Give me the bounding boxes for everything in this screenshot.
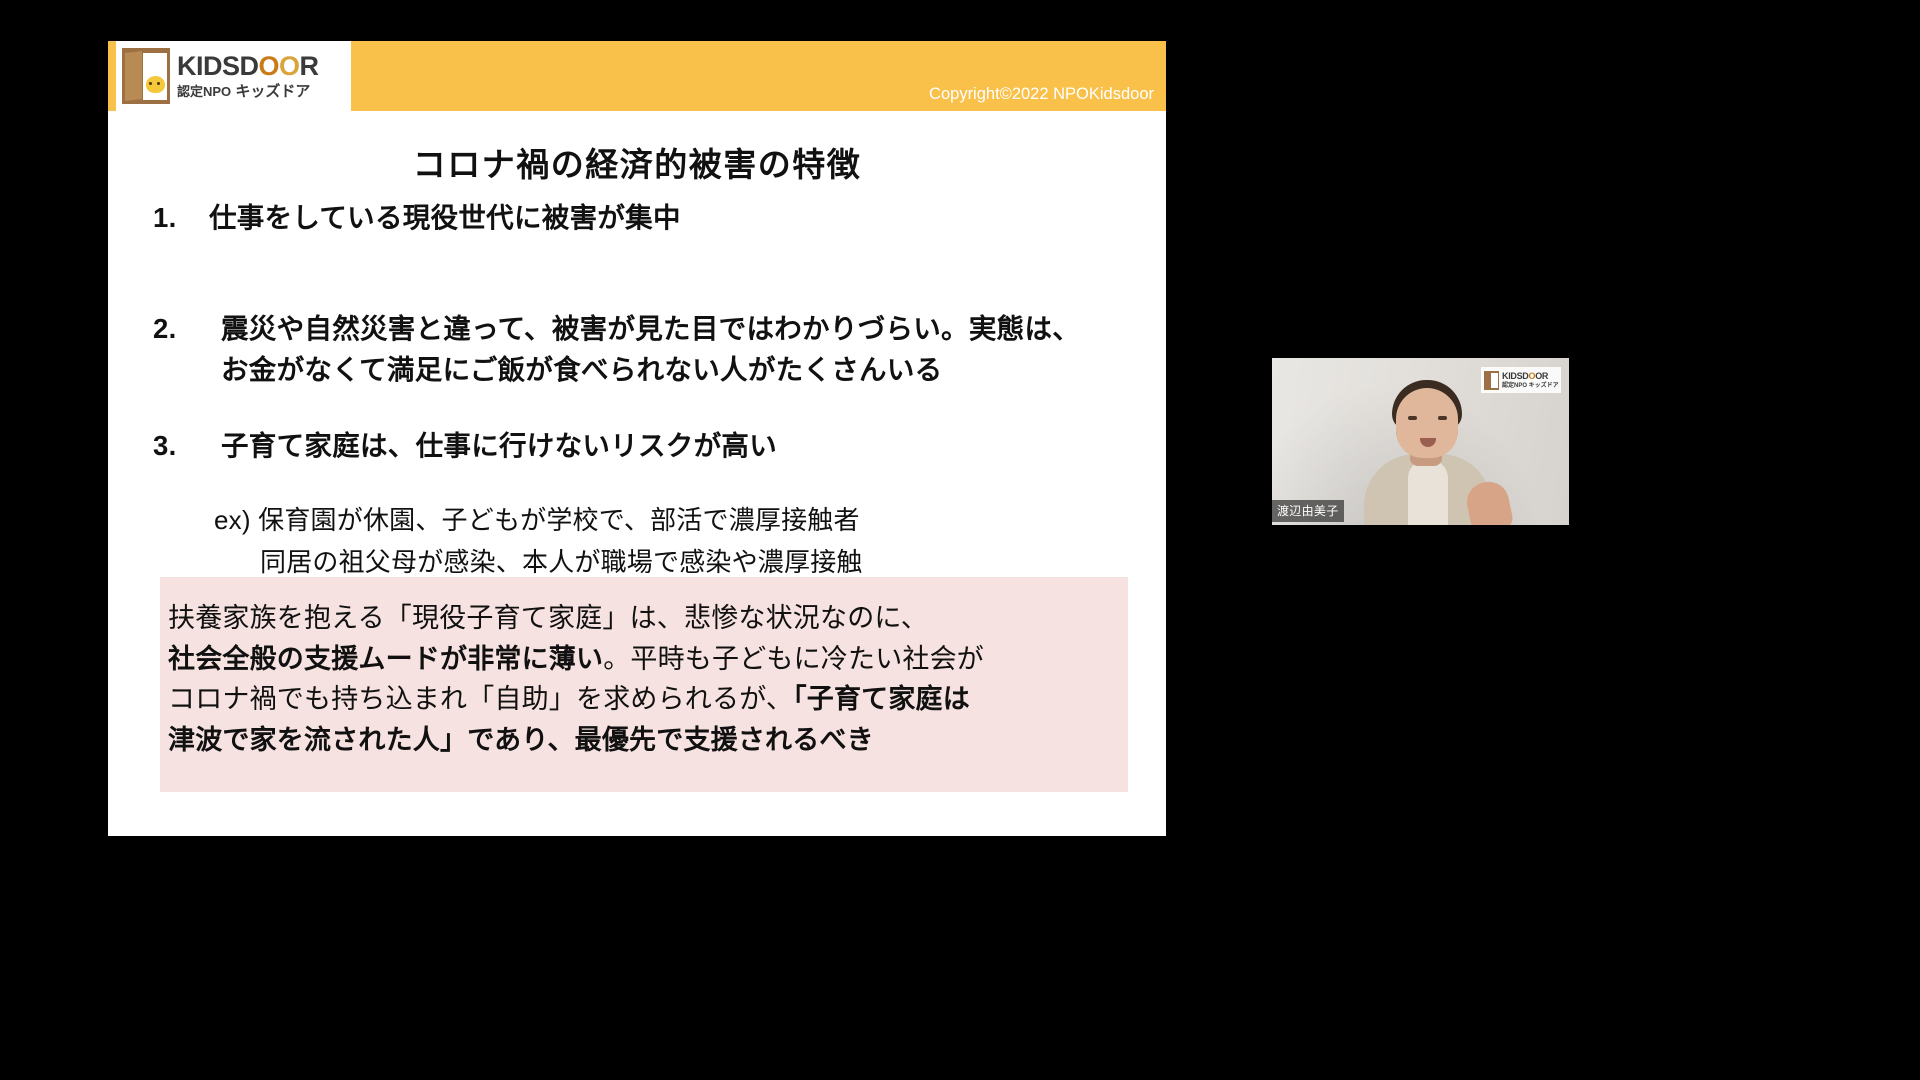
list-item-number: 2. (153, 309, 221, 350)
callout-line2-normal: 。平時も子どもに冷たい社会が (603, 644, 984, 674)
video-logo-part2: OR (1535, 371, 1548, 381)
callout-line-3: コロナ禍でも持ち込まれ「自助」を求められるが、「子育て家庭は (168, 679, 1118, 720)
logo-npo-label: 認定NPO (177, 84, 231, 99)
example-block: ex) 保育園が休園、子どもが学校で、部活で濃厚接触者同居の祖父母が感染、本人が… (214, 499, 863, 583)
list-item-number: 1. (153, 198, 209, 239)
chick-icon (146, 76, 165, 93)
logo-katakana-label: キッズドア (235, 83, 310, 100)
callout-box: 扶養家族を抱える「現役子育て家庭」は、悲惨な状況なのに、 社会全般の支援ムードが… (160, 577, 1128, 792)
callout-line3-normal: コロナ禍でも持ち込まれ「自助」を求められるが、 (168, 684, 793, 714)
video-logo-sub-text: 認定NPO キッズドア (1502, 383, 1559, 389)
list-item-text: 震災や自然災害と違って、被害が見た目ではわかりづらい。実態は、 (221, 313, 1080, 344)
callout-line-2: 社会全般の支援ムードが非常に薄い。平時も子どもに冷たい社会が (168, 639, 1118, 680)
logo-sub-text: 認定NPO キッズドア (177, 84, 319, 99)
presentation-slide: KIDSDOOR 認定NPO キッズドア Copyright©2022 NPOK… (108, 41, 1166, 836)
list-item: 2.震災や自然災害と違って、被害が見た目ではわかりづらい。実態は、お金がなくて満… (153, 309, 1143, 390)
video-logo-main-text: KIDSDOOR (1502, 372, 1559, 381)
copyright-notice: Copyright©2022 NPOKidsdoor (929, 85, 1154, 104)
example-line-1: ex) 保育園が休園、子どもが学校で、部活で濃厚接触者 (214, 505, 860, 535)
list-item: 3.子育て家庭は、仕事に行けないリスクが高い (153, 426, 777, 467)
video-overlay-logo: KIDSDOOR 認定NPO キッズドア (1481, 367, 1561, 393)
callout-line-1: 扶養家族を抱える「現役子育て家庭」は、悲惨な状況なのに、 (168, 598, 1118, 639)
video-participant-tile[interactable]: KIDSDOOR 認定NPO キッズドア 渡辺由美子 (1272, 358, 1569, 525)
logo-main-text: KIDSDOOR (177, 53, 319, 80)
callout-line3-bold: 「子育て家庭は (793, 684, 970, 714)
callout-line4-bold: 津波で家を流された人」であり、最優先で支援されるべき (168, 725, 874, 755)
list-item: 1.仕事をしている現役世代に被害が集中 (153, 198, 681, 239)
video-logo-wordmark: KIDSDOOR 認定NPO キッズドア (1502, 372, 1559, 389)
list-item-text: 仕事をしている現役世代に被害が集中 (209, 202, 681, 233)
slide-header-bar: KIDSDOOR 認定NPO キッズドア Copyright©2022 NPOK… (108, 41, 1166, 111)
list-item-text-continued: お金がなくて満足にご飯が食べられない人がたくさんいる (153, 350, 1143, 391)
participant-eye-left (1408, 416, 1417, 420)
logo-text-o1: O (259, 51, 280, 81)
screen-root: KIDSDOOR 認定NPO キッズドア Copyright©2022 NPOK… (0, 0, 1920, 1080)
list-item-number: 3. (153, 426, 221, 467)
video-logo-part1: KIDSD (1502, 371, 1529, 381)
door-icon (122, 48, 170, 104)
participant-head (1396, 388, 1458, 458)
slide-title: コロナ禍の経済的被害の特徴 (108, 138, 1166, 186)
kidsdoor-logo: KIDSDOOR 認定NPO キッズドア (116, 41, 351, 111)
door-icon-small (1484, 371, 1499, 390)
logo-wordmark: KIDSDOOR 認定NPO キッズドア (177, 53, 319, 99)
callout-text: 扶養家族を抱える「現役子育て家庭」は、悲惨な状況なのに、 社会全般の支援ムードが… (168, 598, 1118, 760)
participant-name-label: 渡辺由美子 (1272, 500, 1344, 522)
participant-eye-right (1438, 416, 1447, 420)
callout-line1-normal: 扶養家族を抱える「現役子育て家庭」は、悲惨な状況なのに、 (168, 603, 928, 633)
callout-line2-bold: 社会全般の支援ムードが非常に薄い (168, 644, 603, 674)
logo-text-o2: O (279, 51, 300, 81)
logo-text-part2: R (300, 51, 319, 81)
callout-line-4: 津波で家を流された人」であり、最優先で支援されるべき (168, 720, 1118, 761)
logo-text-part1: KIDSD (177, 51, 259, 81)
list-item-text: 子育て家庭は、仕事に行けないリスクが高い (221, 430, 777, 461)
